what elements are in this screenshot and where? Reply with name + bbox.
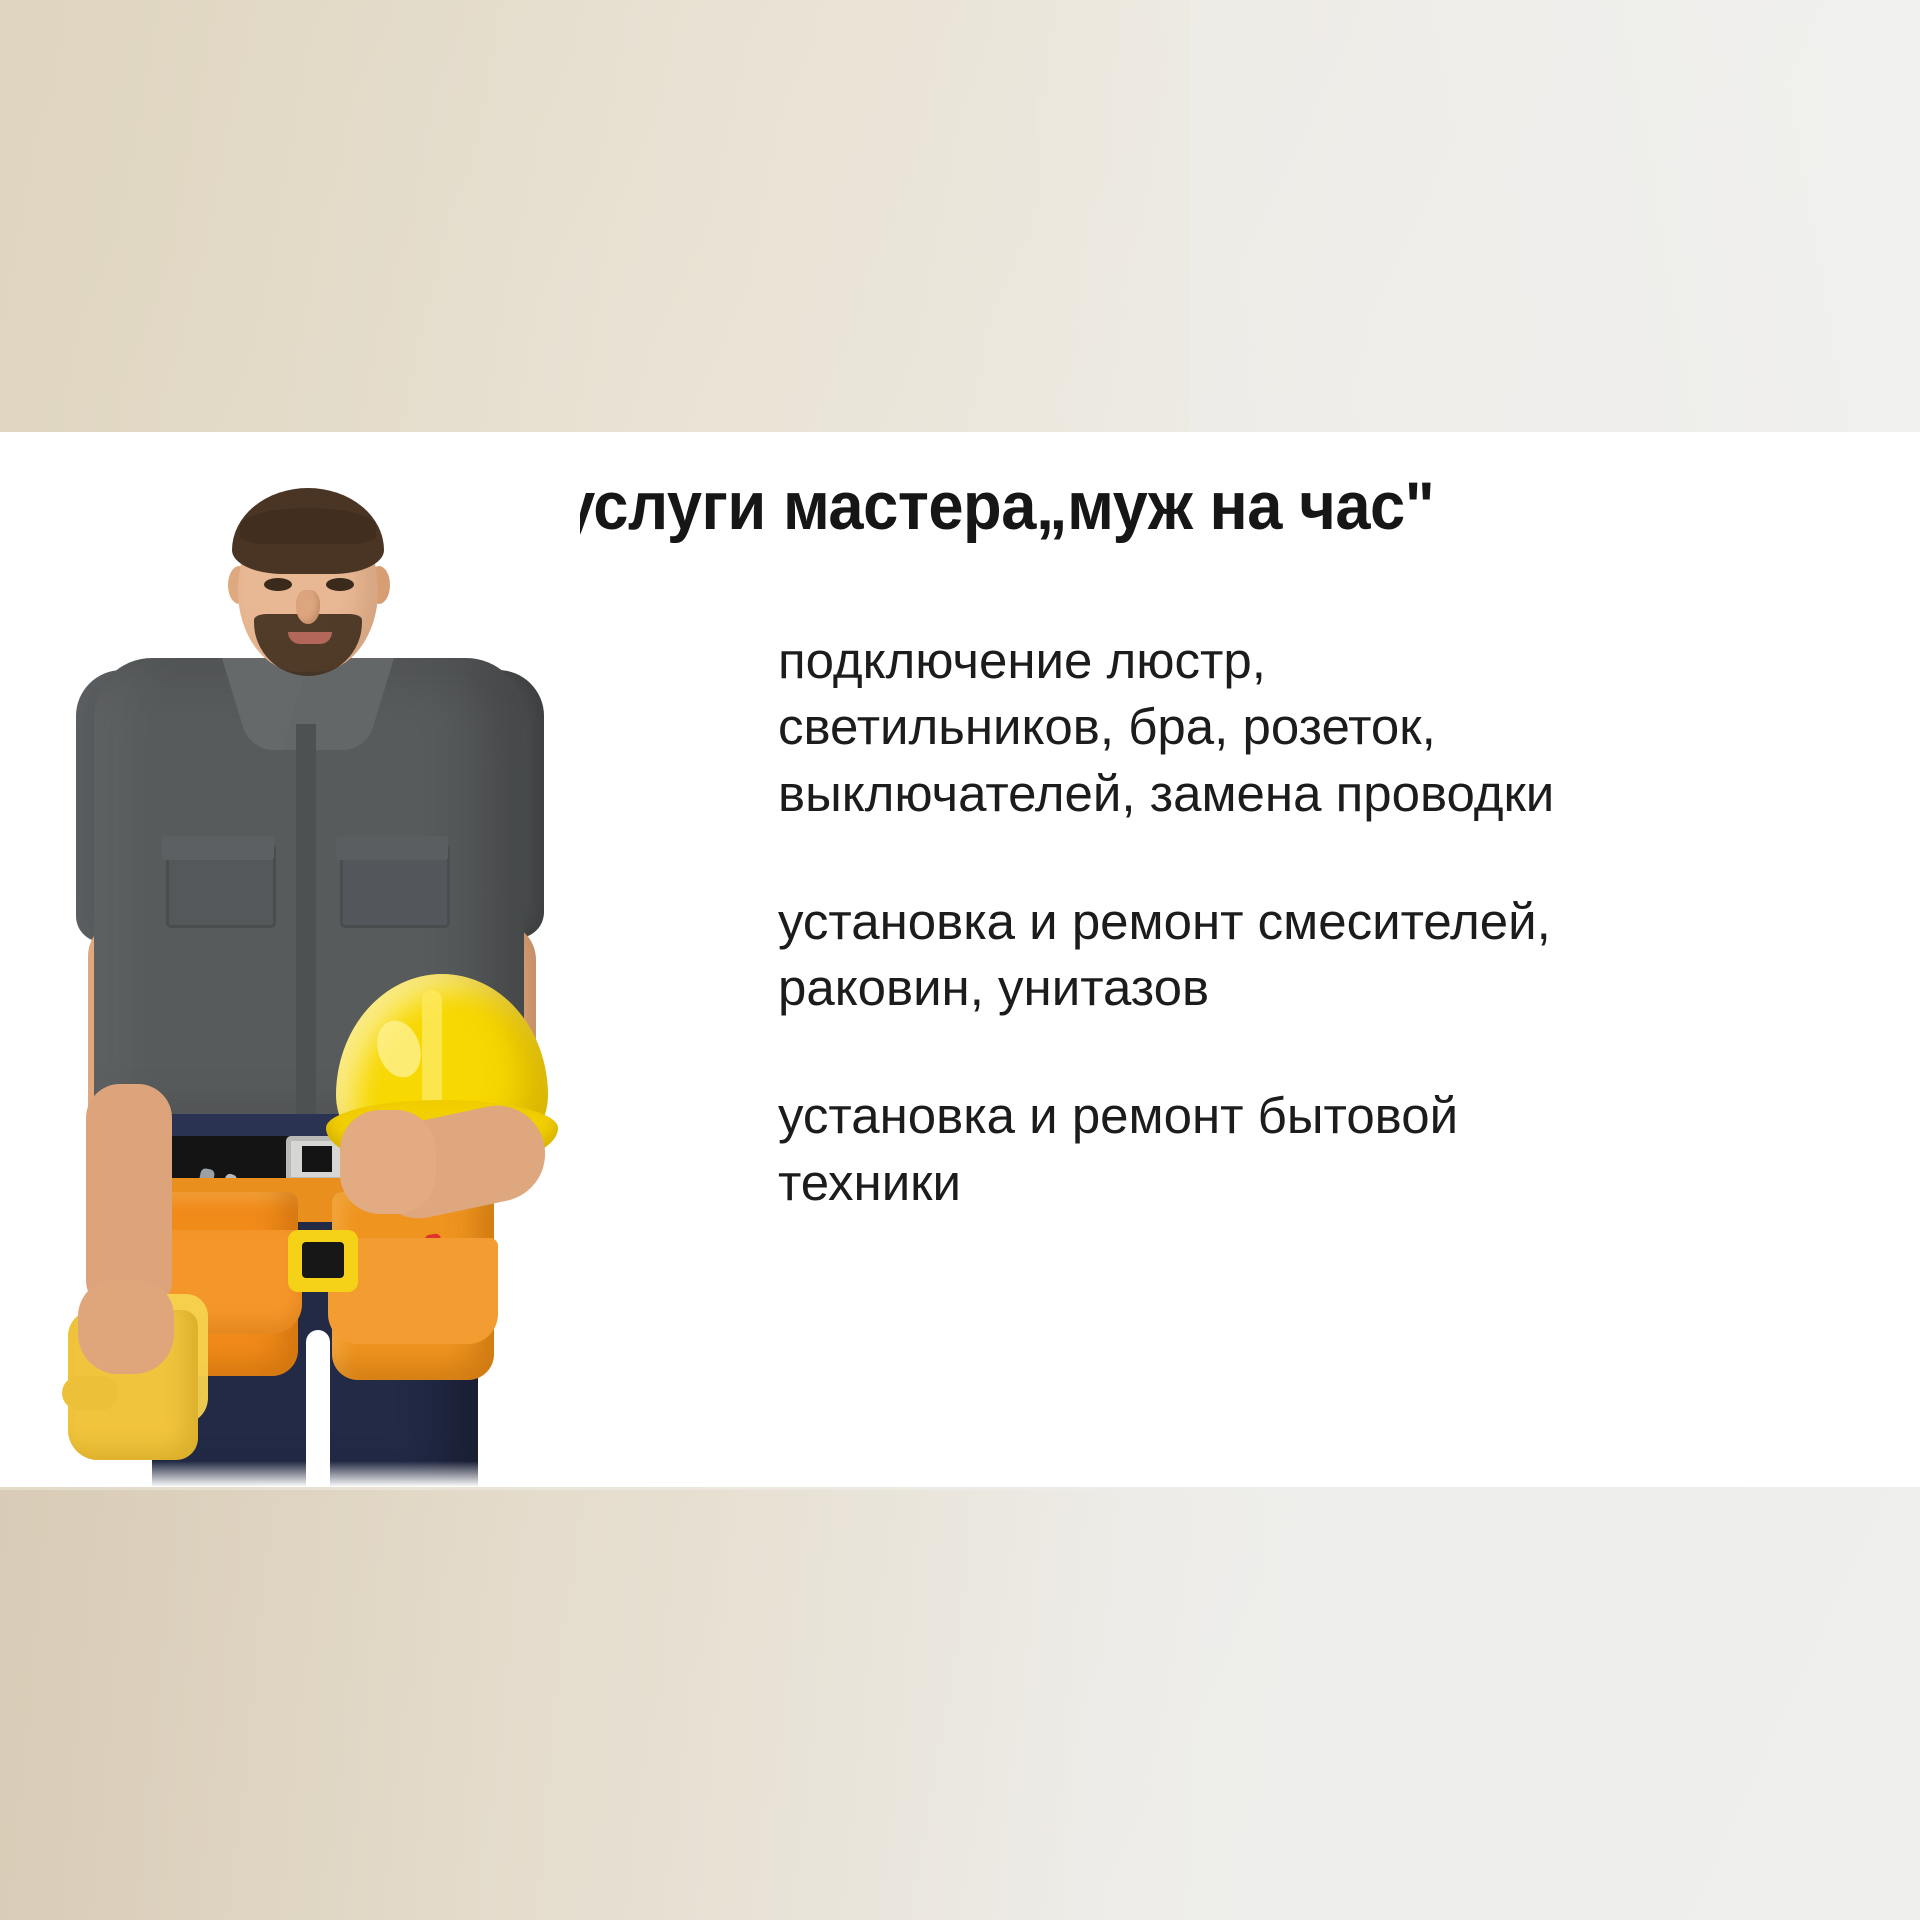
service-block-electrical: подключение люстр, светильников, бра, ро… [778,628,1893,827]
mouth-shape [288,632,332,644]
pocket-flap-right-shape [336,836,448,860]
service-line: раковин, унитазов [778,955,1893,1021]
service-line: светильников, бра, розеток, [778,694,1893,760]
page-root: услуги мастера„муж на час" [0,0,1920,1920]
service-line: техники [778,1150,1893,1216]
service-line: установка и ремонт смесителей, [778,889,1893,955]
belt-buckle-inner-shape [302,1146,332,1172]
service-block-plumbing: установка и ремонт смесителей, раковин, … [778,889,1893,1022]
background-bottom-band [0,1490,1344,1920]
eye-right-shape [326,578,354,591]
tape-measure-window-icon [302,1242,344,1278]
advertisement-card: услуги мастера„муж на час" [0,432,1920,1487]
worker-photo [40,474,580,1487]
photo-bottom-fade [40,1461,580,1487]
service-line: подключение люстр, [778,628,1893,694]
pocket-flap-left-shape [162,836,274,860]
service-line: выключателей, замена проводки [778,761,1893,827]
hard-hat-ridge-shape [422,990,442,1116]
eye-left-shape [264,578,292,591]
service-line: установка и ремонт бытовой [778,1083,1893,1149]
hair-fringe-shape [240,508,376,544]
hand-right-shape [340,1110,436,1214]
shirt-placket-shape [296,724,316,1124]
hand-left-shape [78,1280,174,1374]
service-block-appliances: установка и ремонт бытовой техники [778,1083,1893,1216]
work-glove-finger-shape [62,1376,118,1410]
nose-shape [296,590,320,624]
services-list: подключение люстр, светильников, бра, ро… [778,628,1893,1216]
